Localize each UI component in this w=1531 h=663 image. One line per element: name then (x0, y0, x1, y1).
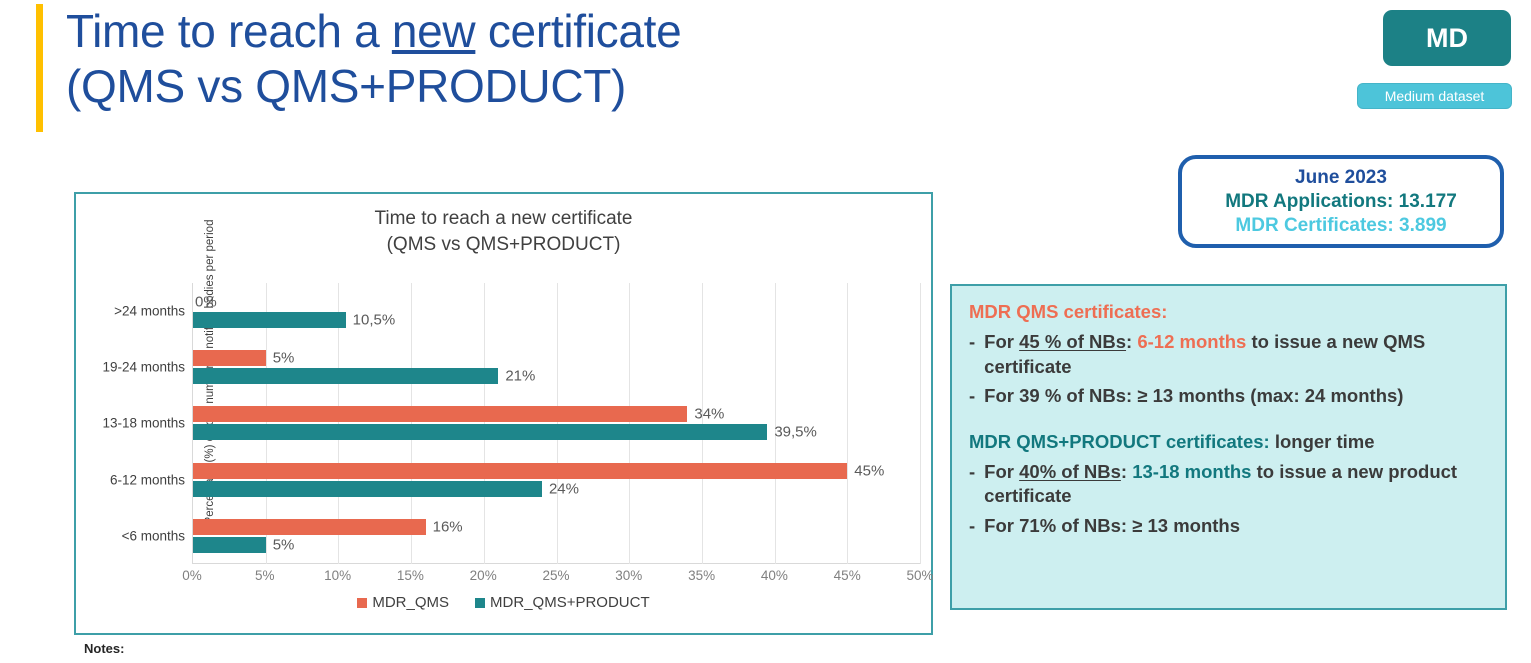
bullet-span: 13-18 months (1132, 461, 1251, 482)
chart-card: Time to reach a new certificate (QMS vs … (74, 192, 933, 635)
chart-bar-value: 16% (433, 518, 463, 535)
qms-heading: MDR QMS certificates: (969, 300, 1488, 324)
chart-legend-item[interactable]: MDR_QMS (357, 594, 449, 611)
dataset-badge-label: Medium dataset (1385, 88, 1485, 104)
chart-category-label: 13-18 months (102, 416, 185, 431)
chart-plot-area: >24 months0%10,5%19-24 months5%21%13-18 … (192, 283, 920, 564)
product-bullet-list: -For 40% of NBs: 13-18 months to issue a… (969, 460, 1488, 539)
chart-category-group: 19-24 months5%21% (193, 339, 920, 395)
chart-bar-value: 21% (505, 368, 535, 385)
chart-x-tick-label: 25% (542, 568, 569, 583)
product-bullet-0: -For 40% of NBs: 13-18 months to issue a… (969, 460, 1488, 509)
md-badge: MD (1383, 10, 1511, 66)
chart-x-axis-ticks: 0%5%10%15%20%25%30%35%40%45%50% (192, 568, 920, 588)
qms-bullet-0: -For 45 % of NBs: 6-12 months to issue a… (969, 330, 1488, 379)
chart-legend-label: MDR_QMS+PRODUCT (490, 594, 650, 611)
chart-bar-value: 5% (273, 350, 295, 367)
bullet-span: : (1126, 331, 1137, 352)
stats-date: June 2023 (1295, 166, 1387, 189)
chart-bar-value: 45% (854, 462, 884, 479)
page-title-line2: (QMS vs QMS+PRODUCT) (66, 59, 916, 114)
chart-bar: 24% (193, 481, 542, 497)
bullet-text: For 71% of NBs: ≥ 13 months (984, 514, 1488, 539)
bullet-text: For 39 % of NBs: ≥ 13 months (max: 24 mo… (984, 384, 1488, 409)
chart-category-label: <6 months (122, 528, 185, 543)
chart-bar: 21% (193, 368, 498, 384)
chart-legend-item[interactable]: MDR_QMS+PRODUCT (475, 594, 650, 611)
qms-bullet-1: -For 39 % of NBs: ≥ 13 months (max: 24 m… (969, 384, 1488, 409)
chart-x-tick-label: 30% (615, 568, 642, 583)
notes-label: Notes: (84, 641, 124, 656)
bullet-span: : (1121, 461, 1132, 482)
chart-bar-value: 39,5% (774, 424, 817, 441)
title-accent-bar (36, 4, 43, 132)
qms-bullet-list: -For 45 % of NBs: 6-12 months to issue a… (969, 330, 1488, 409)
stats-box: June 2023 MDR Applications: 13.177 MDR C… (1178, 155, 1504, 248)
product-heading-dark: longer time (1270, 431, 1375, 452)
chart-bar-value: 34% (694, 406, 724, 423)
chart-legend-swatch (357, 598, 367, 608)
info-panel: MDR QMS certificates: -For 45 % of NBs: … (950, 284, 1507, 610)
stats-certificates: MDR Certificates: 3.899 (1235, 214, 1446, 237)
md-badge-label: MD (1426, 23, 1468, 54)
chart-category-label: >24 months (114, 304, 185, 319)
product-heading-colored: MDR QMS+PRODUCT certificates: (969, 431, 1270, 452)
chart-category-group: >24 months0%10,5% (193, 283, 920, 339)
bullet-dash: - (969, 514, 975, 539)
chart-bar: 45% (193, 463, 847, 479)
stats-applications: MDR Applications: 13.177 (1225, 190, 1457, 213)
bullet-text: For 45 % of NBs: 6-12 months to issue a … (984, 330, 1488, 379)
bullet-span: For 71% of NBs: ≥ 13 months (984, 515, 1240, 536)
bullet-dash: - (969, 384, 975, 409)
bullet-dash: - (969, 330, 975, 379)
page-title-line1-underlined: new (392, 5, 476, 57)
page-title-line1: Time to reach a new certificate (66, 4, 916, 59)
slide: Time to reach a new certificate (QMS vs … (0, 0, 1531, 663)
bullet-dash: - (969, 460, 975, 509)
bullet-span: 6-12 months (1137, 331, 1246, 352)
chart-category-label: 6-12 months (110, 472, 185, 487)
chart-bar: 5% (193, 537, 266, 553)
chart-bar: 16% (193, 519, 426, 535)
chart-gridline (920, 283, 921, 564)
dataset-badge: Medium dataset (1357, 83, 1512, 109)
chart-category-group: 6-12 months45%24% (193, 452, 920, 508)
product-heading: MDR QMS+PRODUCT certificates: longer tim… (969, 430, 1488, 454)
chart-x-tick-label: 5% (255, 568, 275, 583)
page-title-line1-post: certificate (475, 5, 681, 57)
chart-bar-value: 10,5% (353, 312, 396, 329)
bullet-text: For 40% of NBs: 13-18 months to issue a … (984, 460, 1488, 509)
chart-x-tick-label: 10% (324, 568, 351, 583)
bullet-span: For (984, 461, 1019, 482)
chart-x-tick-label: 50% (906, 568, 933, 583)
chart-x-tick-label: 45% (834, 568, 861, 583)
chart-x-tick-label: 0% (182, 568, 202, 583)
chart-bar-value: 5% (273, 536, 295, 553)
chart-legend-label: MDR_QMS (372, 594, 449, 611)
chart-bar: 10,5% (193, 312, 346, 328)
bullet-span: For (984, 331, 1019, 352)
chart-x-tick-label: 35% (688, 568, 715, 583)
page-title: Time to reach a new certificate (QMS vs … (66, 4, 916, 113)
chart-bar-value: 24% (549, 480, 579, 497)
chart-x-tick-label: 15% (397, 568, 424, 583)
chart-bar: 34% (193, 406, 687, 422)
page-title-line1-pre: Time to reach a (66, 5, 392, 57)
chart-category-group: 13-18 months34%39,5% (193, 395, 920, 451)
chart-x-tick-label: 20% (470, 568, 497, 583)
panel-spacer (969, 414, 1488, 430)
product-bullet-1: -For 71% of NBs: ≥ 13 months (969, 514, 1488, 539)
chart-category-group: <6 months16%5% (193, 508, 920, 564)
chart-legend: MDR_QMSMDR_QMS+PRODUCT (76, 594, 931, 611)
chart-category-label: 19-24 months (102, 360, 185, 375)
bullet-span: 40% of NBs (1019, 461, 1121, 482)
bullet-span: For 39 % of NBs: ≥ 13 months (max: 24 mo… (984, 385, 1403, 406)
chart-legend-swatch (475, 598, 485, 608)
chart-bar: 39,5% (193, 424, 767, 440)
chart-bar: 5% (193, 350, 266, 366)
bullet-span: 45 % of NBs (1019, 331, 1126, 352)
chart-x-tick-label: 40% (761, 568, 788, 583)
chart-bar-value: 0% (195, 294, 217, 311)
